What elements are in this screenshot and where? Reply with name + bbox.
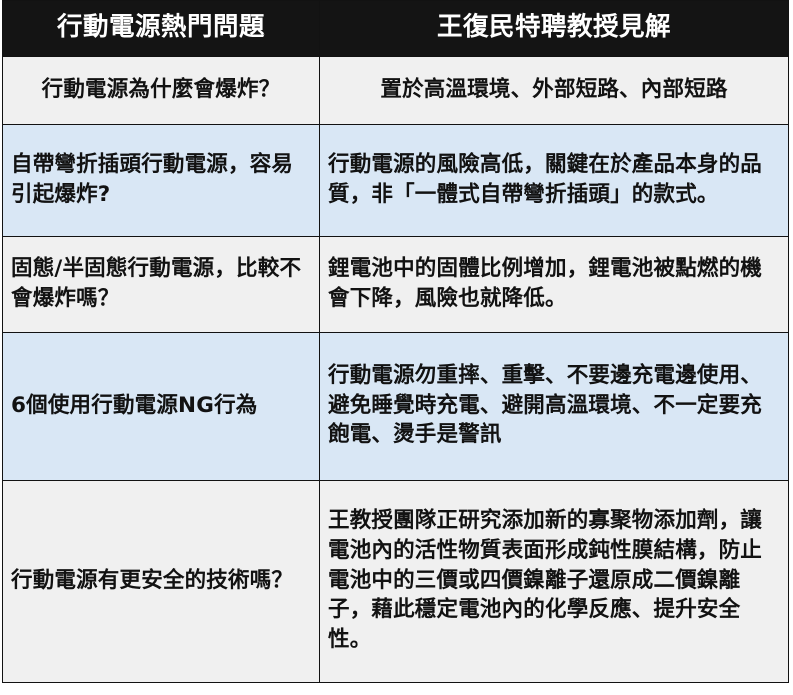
table-row: 行動電源為什麼會爆炸？ 置於高溫環境、外部短路、內部短路 <box>3 57 789 125</box>
table-header: 行動電源熱門問題 王復民特聘教授見解 <box>3 1 789 57</box>
question-cell: 行動電源有更安全的技術嗎？ <box>3 481 320 683</box>
answer-cell: 王教授團隊正研究添加新的寡聚物添加劑，讓電池內的活性物質表面形成鈍性膜結構，防止… <box>320 481 789 683</box>
power-bank-faq-table: 行動電源熱門問題 王復民特聘教授見解 行動電源為什麼會爆炸？ 置於高溫環境、外部… <box>2 0 789 683</box>
table-row: 固態/半固態行動電源，比較不會爆炸嗎？ 鋰電池中的固體比例增加，鋰電池被點燃的機… <box>3 237 789 333</box>
table-row: 6個使用行動電源NG行為 行動電源勿重摔、重擊、不要邊充電邊使用、避免睡覺時充電… <box>3 333 789 481</box>
table-body: 行動電源為什麼會爆炸？ 置於高溫環境、外部短路、內部短路 自帶彎折插頭行動電源，… <box>3 57 789 683</box>
question-cell: 行動電源為什麼會爆炸？ <box>3 57 320 125</box>
question-cell: 固態/半固態行動電源，比較不會爆炸嗎？ <box>3 237 320 333</box>
answer-cell: 置於高溫環境、外部短路、內部短路 <box>320 57 789 125</box>
answer-cell: 行動電源勿重摔、重擊、不要邊充電邊使用、避免睡覺時充電、避開高溫環境、不一定要充… <box>320 333 789 481</box>
table-header-row: 行動電源熱門問題 王復民特聘教授見解 <box>3 1 789 57</box>
answer-cell: 行動電源的風險高低，關鍵在於產品本身的品質，非「一體式自帶彎折插頭」的款式。 <box>320 125 789 237</box>
question-cell: 自帶彎折插頭行動電源，容易引起爆炸? <box>3 125 320 237</box>
column-header-answer: 王復民特聘教授見解 <box>320 1 789 57</box>
table-row: 行動電源有更安全的技術嗎？ 王教授團隊正研究添加新的寡聚物添加劑，讓電池內的活性… <box>3 481 789 683</box>
question-cell: 6個使用行動電源NG行為 <box>3 333 320 481</box>
answer-cell: 鋰電池中的固體比例增加，鋰電池被點燃的機會下降，風險也就降低。 <box>320 237 789 333</box>
table-row: 自帶彎折插頭行動電源，容易引起爆炸? 行動電源的風險高低，關鍵在於產品本身的品質… <box>3 125 789 237</box>
column-header-question: 行動電源熱門問題 <box>3 1 320 57</box>
